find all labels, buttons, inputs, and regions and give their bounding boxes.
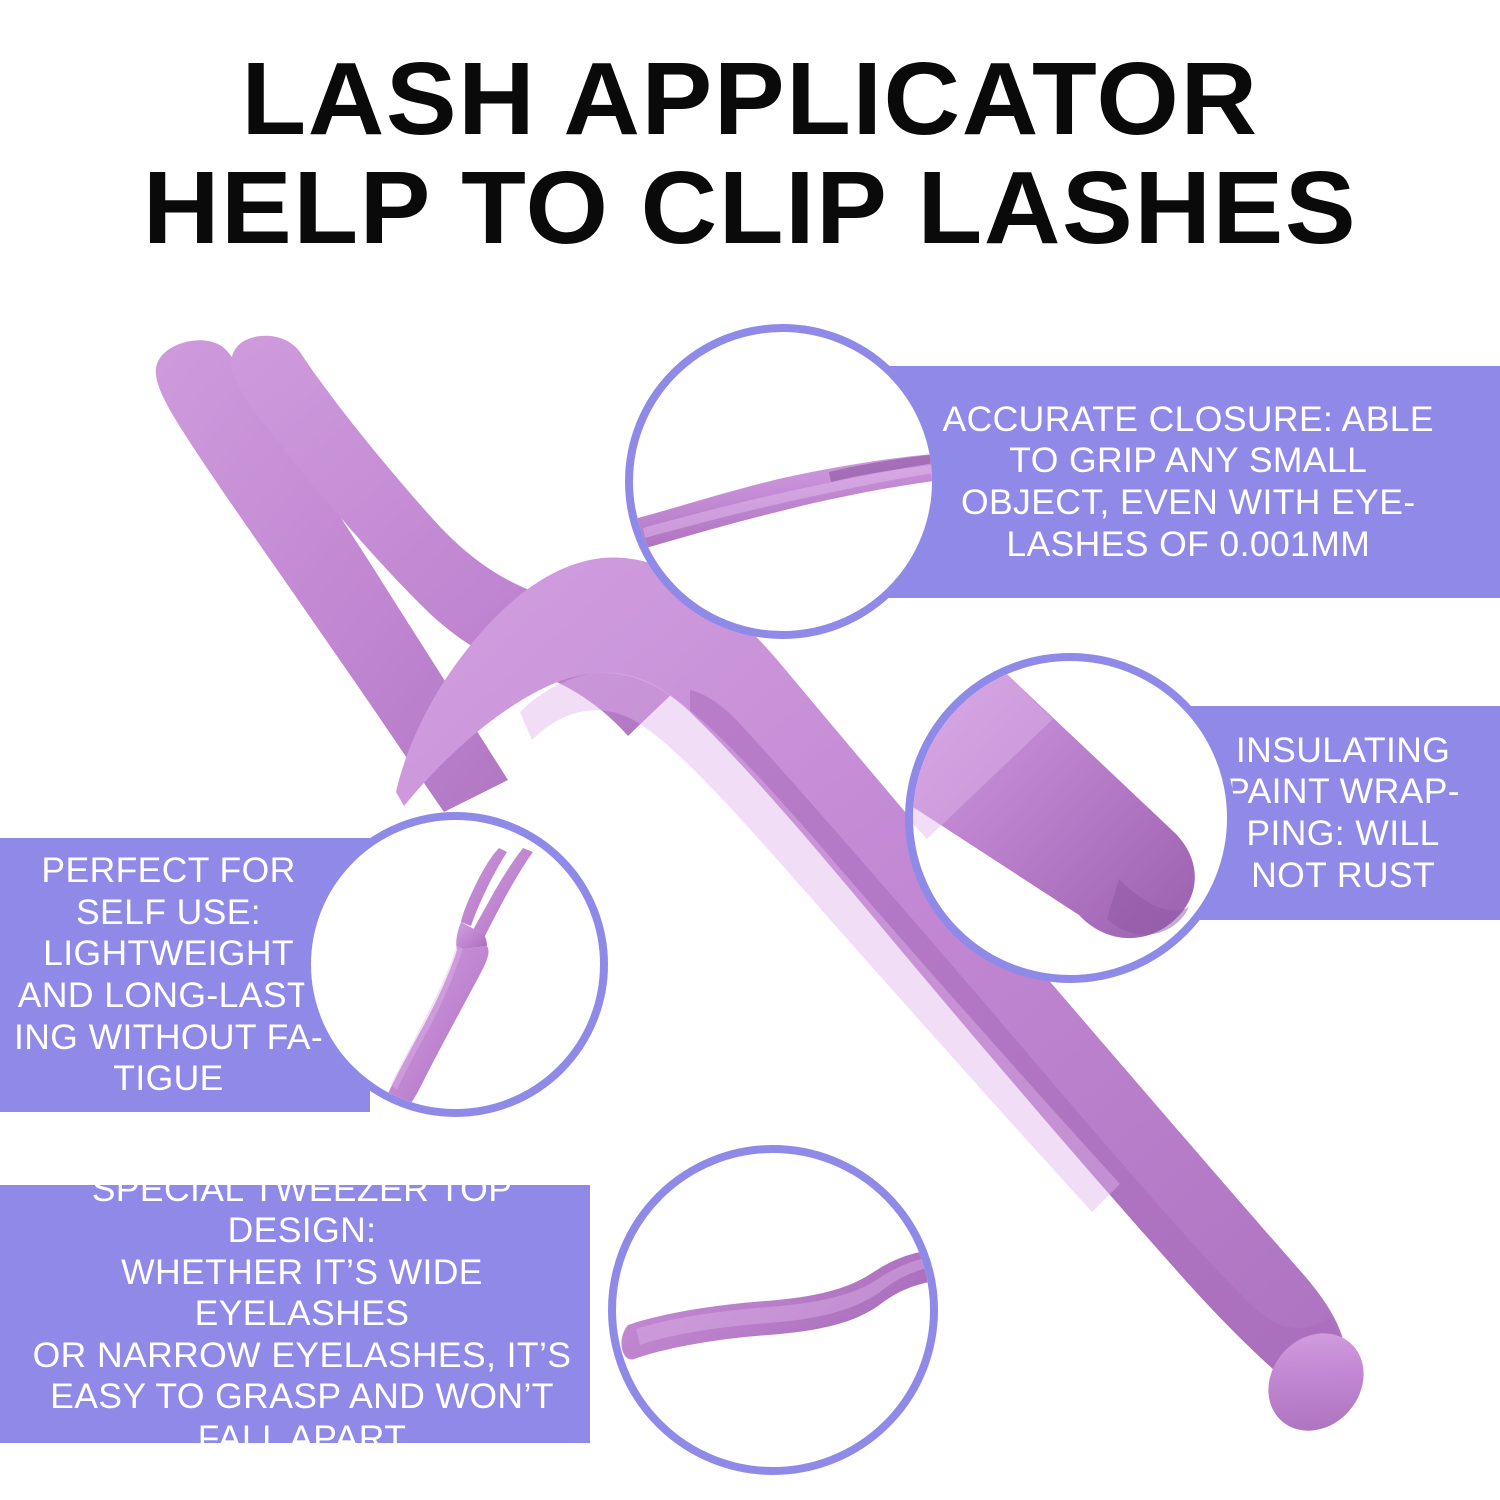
tweezer-right-prong [231, 336, 676, 736]
detail-circle-tweezer-top-design [608, 1145, 938, 1475]
tweezer-left-prong [156, 340, 508, 812]
detail-circle-self-use [303, 812, 608, 1117]
product-infographic: LASH APPLICATOR HELP TO CLIP LASHES ACCU… [0, 0, 1500, 1500]
page-title: LASH APPLICATOR HELP TO CLIP LASHES [0, 44, 1500, 262]
feature-band-tweezer-top-design: SPECIAL TWEEZER TOP DESIGN: WHETHER IT’S… [0, 1185, 590, 1443]
title-line-1: LASH APPLICATOR [0, 44, 1500, 153]
feature-text-tweezer-top-design: SPECIAL TWEEZER TOP DESIGN: WHETHER IT’S… [14, 1169, 590, 1460]
title-line-2: HELP TO CLIP LASHES [0, 153, 1500, 262]
detail-circle-insulating-paint [905, 653, 1235, 983]
curved-prong-closeup-icon [616, 1153, 938, 1475]
feature-text-accurate-closure: ACCURATE CLOSURE: ABLE TO GRIP ANY SMALL… [943, 399, 1434, 565]
tweezer-handle-coating-closeup-icon [913, 661, 1235, 983]
tweezer-handle-end [1249, 1314, 1384, 1450]
full-tweezer-miniature-icon [311, 820, 608, 1117]
feature-text-insulating-paint: INSULATING PAINT WRAP- PING: WILL NOT RU… [1226, 730, 1460, 896]
feature-text-self-use: PERFECT FOR SELF USE: LIGHTWEIGHT AND LO… [14, 850, 323, 1099]
detail-circle-tip-closure [625, 324, 940, 639]
